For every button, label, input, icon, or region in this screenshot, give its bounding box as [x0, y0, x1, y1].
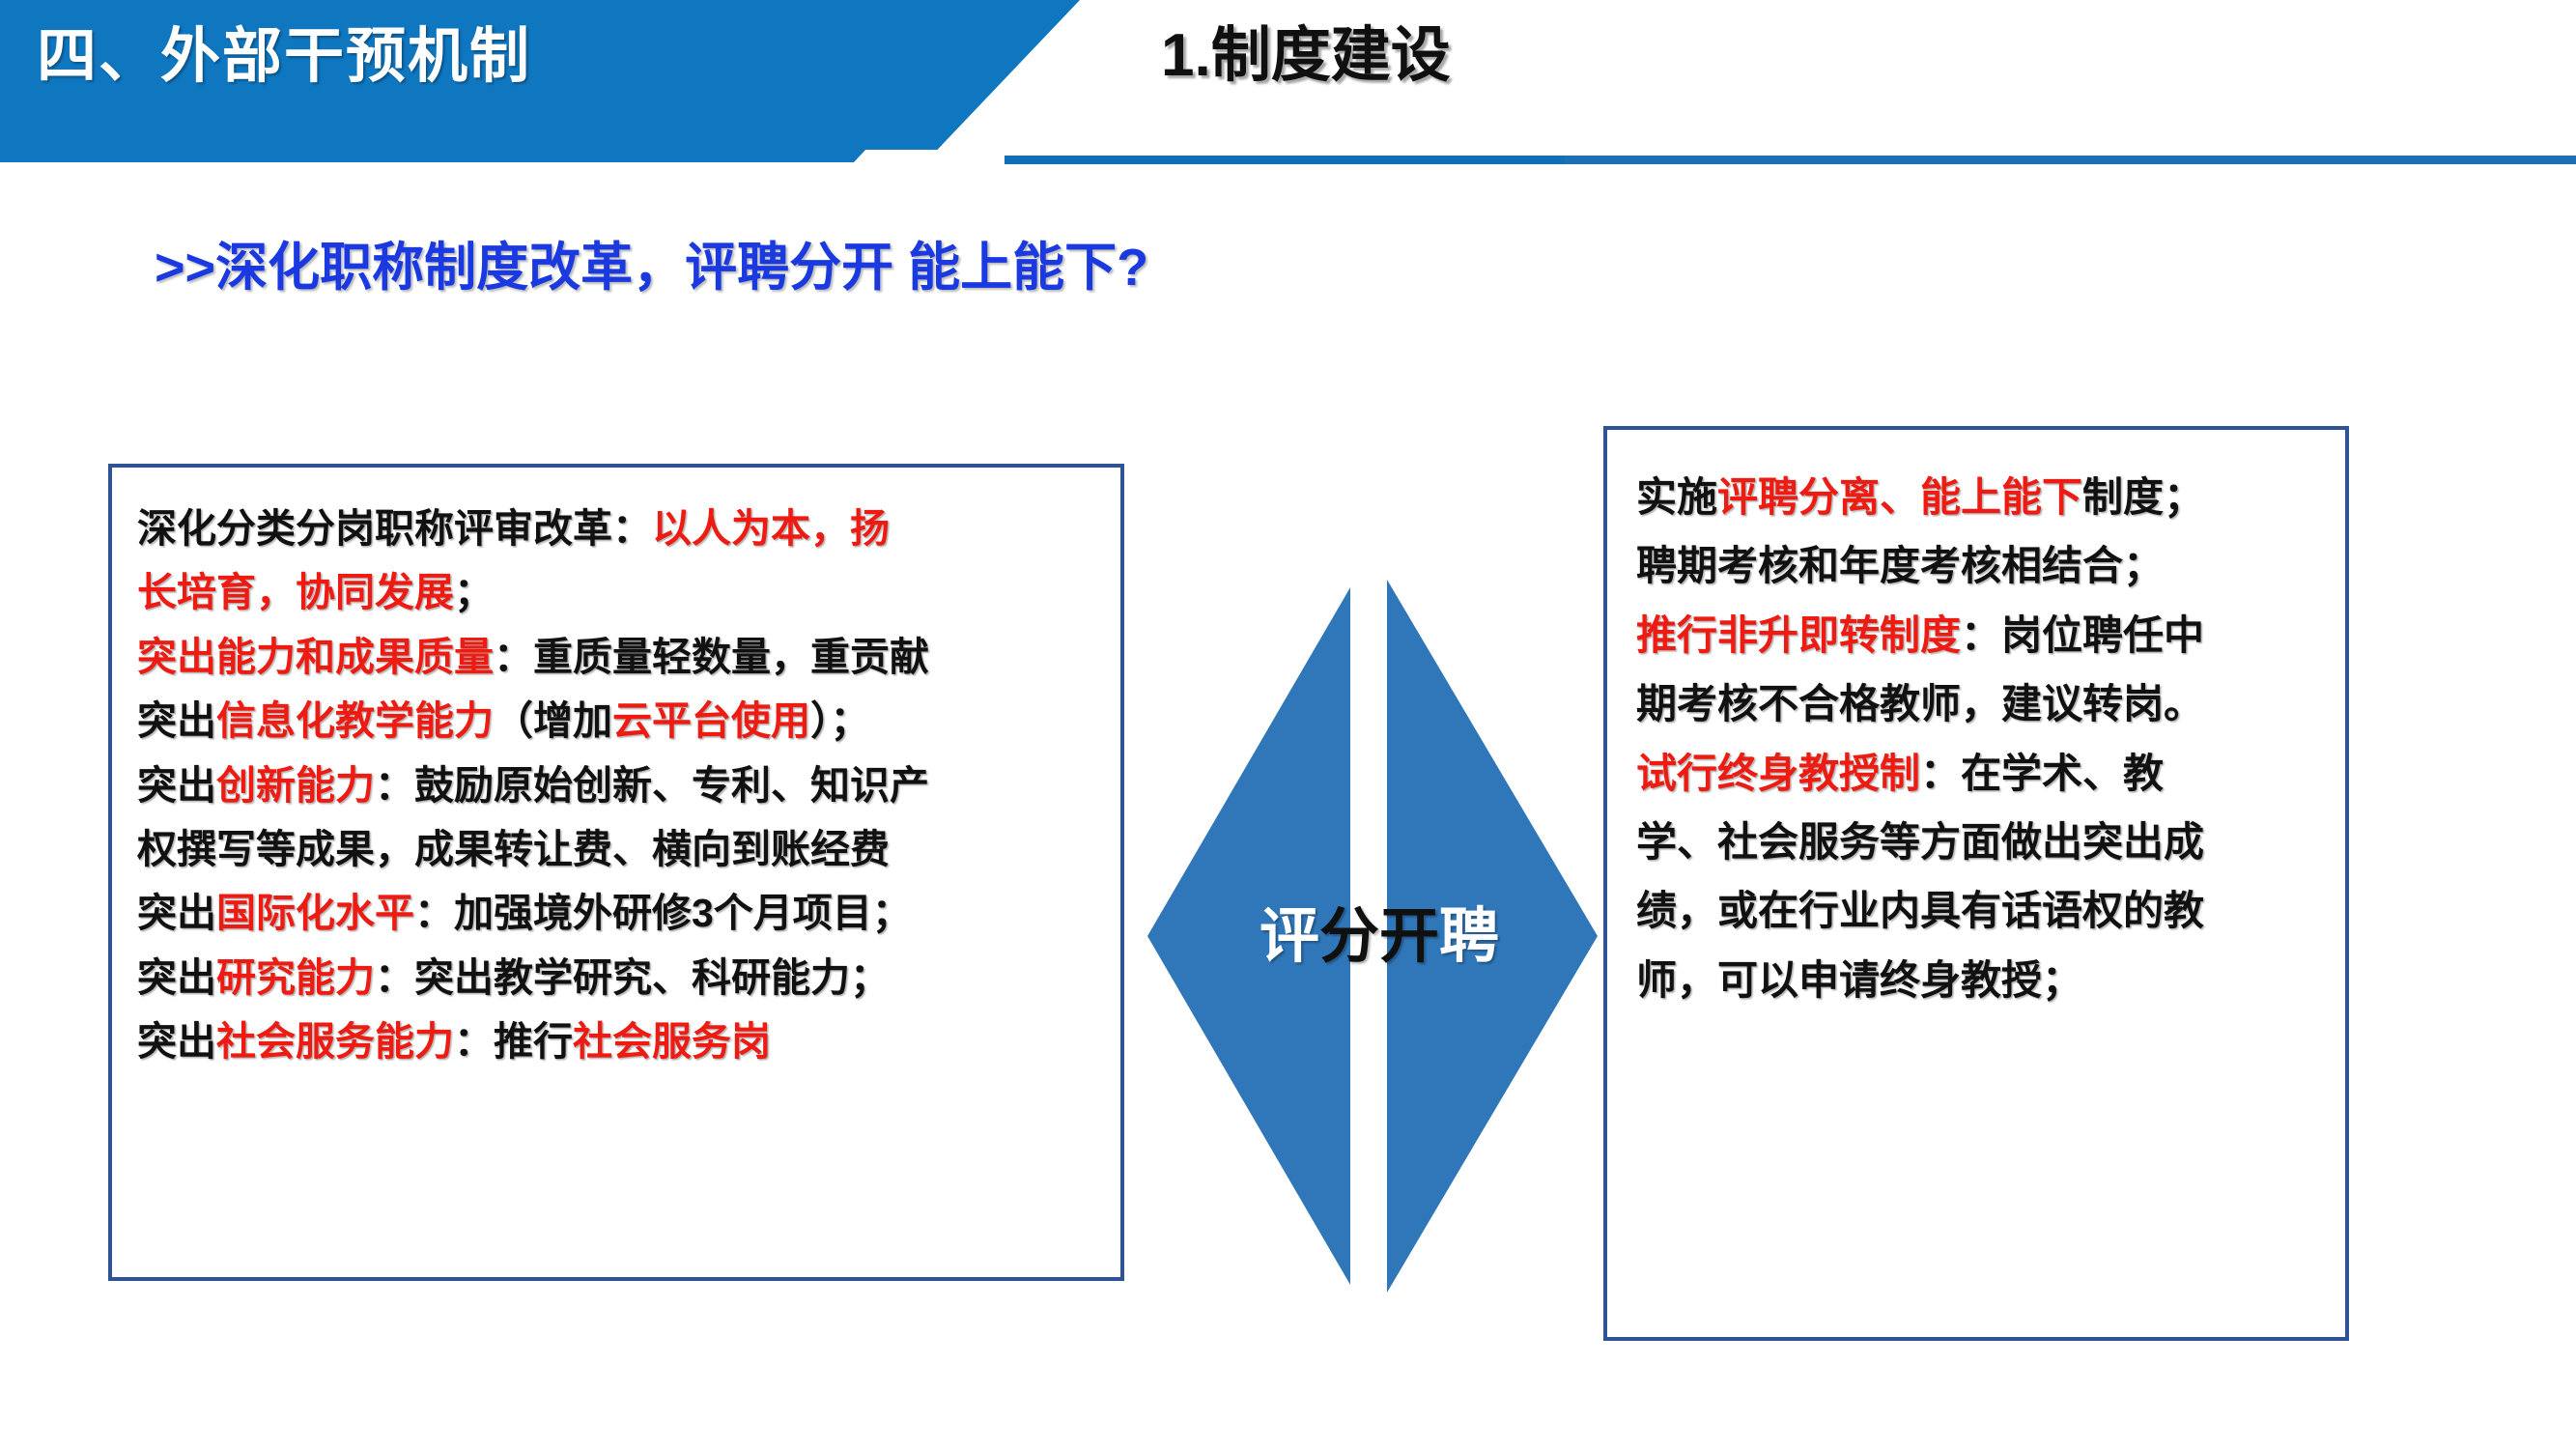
slide-canvas: 四、外部干预机制 1.制度建设 >>深化职称制度改革，评聘分开 能上能下? 深化… [0, 0, 2576, 1450]
text-run: 国际化水平 [216, 891, 414, 935]
text-run: 师，可以申请终身教授； [1636, 957, 2082, 1003]
body-line: 突出社会服务能力：推行社会服务岗 [137, 1009, 1101, 1073]
body-line: 绩，或在行业内具有话语权的教 [1636, 876, 2330, 945]
body-line: 师，可以申请终身教授； [1636, 946, 2330, 1014]
body-line: 长培育，协同发展； [137, 560, 1101, 624]
text-run: ：重质量轻数量，重贡献 [494, 635, 929, 679]
text-run: 试行终身教授制 [1636, 751, 1920, 796]
text-run: 云平台使用 [612, 698, 810, 743]
text-run: 聘期考核和年度考核相结合； [1636, 543, 2164, 588]
text-run: 权撰写等成果，成果转让费、横向到账经费 [137, 827, 890, 871]
text-run: 学、社会服务等方面做出突出成 [1636, 819, 2204, 865]
text-run: ：在学术、教 [1920, 751, 2164, 796]
body-line: 实施评聘分离、能上能下制度； [1636, 463, 2330, 531]
header-section-label: 四、外部干预机制 [37, 27, 531, 87]
header-underline-rule-right [1565, 156, 2576, 164]
text-run: 创新能力 [216, 763, 375, 808]
body-line: 突出信息化教学能力（增加云平台使用）； [137, 689, 1101, 753]
text-run: ：岗位聘任中 [1961, 612, 2204, 658]
text-run: 绩，或在行业内具有话语权的教 [1636, 888, 2204, 933]
text-run: 以人为本，扬 [652, 506, 890, 551]
body-line: 学、社会服务等方面做出突出成 [1636, 808, 2330, 876]
body-line: 突出创新能力：鼓励原始创新、专利、知识产 [137, 753, 1101, 817]
text-run: 推行非升即转制度 [1636, 612, 1961, 658]
body-line: 试行终身教授制：在学术、教 [1636, 739, 2330, 808]
text-run: 社会服务岗 [573, 1019, 771, 1064]
text-run: 期考核不合格教师，建议转岗。 [1636, 681, 2204, 726]
body-line: 深化分类分岗职称评审改革：以人为本，扬 [137, 497, 1101, 560]
text-run: ：加强境外研修3个月项目； [414, 891, 912, 935]
text-run: 评聘分离、能上能下 [1717, 474, 2082, 520]
text-run: 突出 [137, 1019, 216, 1064]
text-run: 突出能力和成果质量 [137, 635, 494, 679]
text-run: 制度； [2082, 474, 2204, 520]
text-run: 深化分类分岗职称评审改革： [137, 506, 652, 551]
text-run: 实施 [1636, 474, 1717, 520]
text-run: 长培育，协同发展 [137, 570, 454, 614]
body-line: 聘期考核和年度考核相结合； [1636, 531, 2330, 600]
body-line: 突出能力和成果质量：重质量轻数量，重贡献 [137, 625, 1101, 689]
arrow-label-left: 评 [1260, 907, 1319, 967]
text-run: ； [454, 570, 494, 614]
arrow-label-group: 评 分开 聘 [1147, 580, 1611, 1294]
arrow-label-right: 聘 [1439, 907, 1499, 967]
text-run: ：鼓励原始创新、专利、知识产 [375, 763, 929, 808]
text-run: 突出 [137, 955, 216, 1000]
body-line: 推行非升即转制度：岗位聘任中 [1636, 601, 2330, 669]
left-content-box: 深化分类分岗职称评审改革：以人为本，扬长培育，协同发展；突出能力和成果质量：重质… [108, 464, 1124, 1281]
left-box-lines: 深化分类分岗职称评审改革：以人为本，扬长培育，协同发展；突出能力和成果质量：重质… [137, 497, 1101, 1074]
text-run: ：突出教学研究、科研能力； [375, 955, 890, 1000]
arrow-label-middle: 分开 [1319, 907, 1439, 967]
text-run: ）； [810, 698, 870, 743]
text-run: 研究能力 [216, 955, 375, 1000]
text-run: 突出 [137, 698, 216, 743]
text-run: ：推行 [454, 1019, 573, 1064]
body-line: 权撰写等成果，成果转让费、横向到账经费 [137, 817, 1101, 881]
text-run: （增加 [494, 698, 612, 743]
right-content-box: 实施评聘分离、能上能下制度；聘期考核和年度考核相结合；推行非升即转制度：岗位聘任… [1603, 426, 2349, 1341]
body-line: 期考核不合格教师，建议转岗。 [1636, 669, 2330, 738]
text-run: 信息化教学能力 [216, 698, 494, 743]
double-arrow-graphic: 评 分开 聘 [1147, 580, 1611, 1294]
text-run: 突出 [137, 763, 216, 808]
right-box-lines: 实施评聘分离、能上能下制度；聘期考核和年度考核相结合；推行非升即转制度：岗位聘任… [1636, 463, 2330, 1014]
body-line: 突出国际化水平：加强境外研修3个月项目； [137, 881, 1101, 945]
subtitle-text: >>深化职称制度改革，评聘分开 能上能下? [155, 242, 1148, 294]
text-run: 社会服务能力 [216, 1019, 454, 1064]
text-run: 突出 [137, 891, 216, 935]
body-line: 突出研究能力：突出教学研究、科研能力； [137, 946, 1101, 1009]
page-title: 1.制度建设 [1161, 26, 1451, 86]
